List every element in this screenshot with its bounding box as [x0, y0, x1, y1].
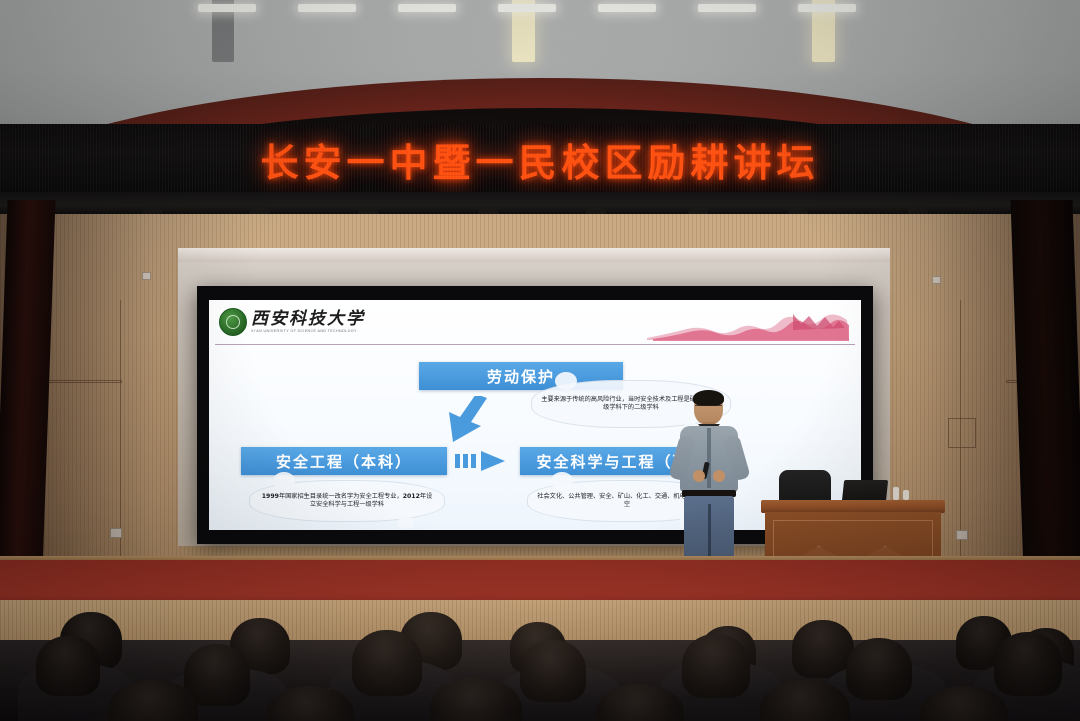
- mountain-decoration-icon: [643, 310, 853, 342]
- presentation-slide: 西安科技大学 XI'AN UNIVERSITY OF SCIENCE AND T…: [209, 300, 861, 530]
- truss-tube: [298, 4, 356, 12]
- truss-tube: [198, 4, 256, 12]
- truss-tube: [398, 4, 456, 12]
- callout-bl-text: 1999年国家招生目录统一改名字为安全工程专业，2012年设立安全科学与工程一级…: [259, 493, 435, 510]
- university-logo: 西安科技大学 XI'AN UNIVERSITY OF SCIENCE AND T…: [219, 308, 365, 336]
- slide-box-safety-engineering: 安全工程（本科）: [241, 447, 447, 475]
- university-name-cn: 西安科技大学: [251, 311, 365, 328]
- lecture-hall-photo: 长安一中暨一民校区励耕讲坛 西安: [0, 0, 1080, 721]
- truss-tube: [498, 4, 556, 12]
- arrow-down-left-icon: [441, 396, 497, 444]
- audience-member: [994, 632, 1062, 696]
- slide-callout-bottom-left: 1999年国家招生目录统一改名字为安全工程专业，2012年设立安全科学与工程一级…: [249, 480, 445, 522]
- audience-member: [36, 636, 100, 696]
- led-banner: 长安一中暨一民校区励耕讲坛: [0, 124, 1080, 194]
- water-bottle: [903, 490, 909, 500]
- audience-member: [352, 630, 422, 696]
- speaker-hand-right: [713, 470, 725, 482]
- audience-member: [520, 640, 586, 702]
- university-emblem-icon: [219, 308, 247, 336]
- university-name-en: XI'AN UNIVERSITY OF SCIENCE AND TECHNOLO…: [251, 330, 365, 334]
- audience-member: [846, 638, 912, 700]
- led-banner-text: 长安一中暨一民校区励耕讲坛: [260, 132, 819, 187]
- water-bottle: [893, 487, 899, 500]
- audience-member: [682, 634, 750, 698]
- truss-tube: [698, 4, 756, 12]
- projection-screen: 西安科技大学 XI'AN UNIVERSITY OF SCIENCE AND T…: [209, 300, 861, 530]
- speaker-hair: [693, 390, 724, 406]
- slide-header-rule: [215, 344, 855, 345]
- truss-tube: [598, 4, 656, 12]
- truss-tube: [798, 4, 856, 12]
- glasses-icon: [695, 405, 722, 411]
- speaker-hand-left: [693, 470, 705, 482]
- laptop: [842, 480, 888, 502]
- screen-alcove-lip: [178, 248, 890, 262]
- university-logo-text: 西安科技大学 XI'AN UNIVERSITY OF SCIENCE AND T…: [251, 311, 365, 334]
- speaker-shirt-placket: [707, 428, 711, 488]
- arrow-right-icon: [455, 450, 507, 472]
